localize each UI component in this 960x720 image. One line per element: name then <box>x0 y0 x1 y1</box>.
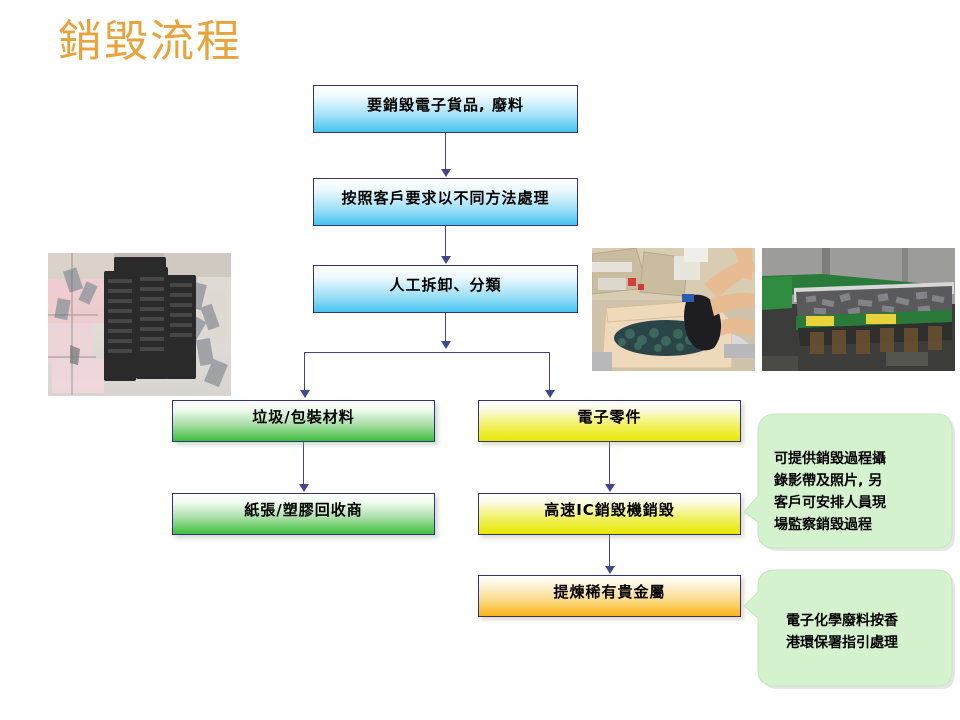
box-label: 提煉稀有貴金屬 <box>553 583 665 610</box>
box-electronic-parts[interactable]: 電子零件 <box>478 400 741 442</box>
arrowhead-2-to-3 <box>441 256 451 264</box>
connector-split-left <box>304 352 305 392</box>
photo-black-trays <box>48 253 231 396</box>
callout-line: 電子化學廢料按香 <box>786 610 946 632</box>
page-title: 銷毀流程 <box>58 14 242 70</box>
box-label: 高速IC銷毀機銷毀 <box>544 501 675 528</box>
arrowhead-waste-to-recycler <box>299 484 309 492</box>
connector-shredder-to-metal <box>609 535 610 568</box>
box-ic-shredder[interactable]: 高速IC銷毀機銷毀 <box>478 493 741 535</box>
box-label: 要銷毀電子貨品, 廢料 <box>367 96 524 123</box>
box-label: 按照客戶要求以不同方法處理 <box>341 189 549 216</box>
arrowhead-split-right <box>545 390 555 398</box>
photo-metal-conveyor <box>762 248 955 371</box>
arrowhead-1-to-2 <box>441 169 451 177</box>
callout-line: 港環保署指引處理 <box>786 632 946 654</box>
connector-1-to-2 <box>445 133 446 170</box>
box-destroy-input[interactable]: 要銷毀電子貨品, 廢料 <box>313 85 578 133</box>
callout-line: 場監察銷毀過程 <box>774 514 944 536</box>
arrowhead-shredder-to-metal <box>605 566 615 574</box>
box-label: 紙張/塑膠回收商 <box>244 501 362 528</box>
box-manual-sort[interactable]: 人工拆卸、分類 <box>313 265 578 313</box>
box-customer-method[interactable]: 按照客戶要求以不同方法處理 <box>313 178 578 226</box>
callout-text: 電子化學廢料按香 港環保署指引處理 <box>786 610 946 654</box>
box-label: 人工拆卸、分類 <box>389 276 501 303</box>
callout-line: 錄影帶及照片, 另 <box>774 470 944 492</box>
box-label: 垃圾/包裝材料 <box>252 408 354 435</box>
callout-video-record[interactable]: 可提供銷毀過程攝 錄影帶及照片, 另 客戶可安排人員現 場監察銷毀過程 <box>742 410 956 552</box>
photo-hand-sorting <box>592 248 755 371</box>
connector-split-right <box>549 352 550 392</box>
arrowhead-parts-to-shredder <box>605 484 615 492</box>
box-paper-recycler[interactable]: 紙張/塑膠回收商 <box>172 493 435 535</box>
callout-line: 客戶可安排人員現 <box>774 492 944 514</box>
callout-text: 可提供銷毀過程攝 錄影帶及照片, 另 客戶可安排人員現 場監察銷毀過程 <box>774 448 944 536</box>
connector-split-bar <box>304 352 550 353</box>
slide-canvas: 銷毀流程 <box>0 0 960 720</box>
arrowhead-split-left <box>300 390 310 398</box>
connector-2-to-3 <box>445 226 446 257</box>
connector-waste-to-recycler <box>303 442 304 486</box>
box-label: 電子零件 <box>577 408 641 435</box>
box-waste-packaging[interactable]: 垃圾/包裝材料 <box>172 400 435 442</box>
callout-epd-guideline[interactable]: 電子化學廢料按香 港環保署指引處理 <box>742 566 956 690</box>
callout-line: 可提供銷毀過程攝 <box>774 448 944 470</box>
box-precious-metal[interactable]: 提煉稀有貴金屬 <box>478 575 741 617</box>
connector-parts-to-shredder <box>609 442 610 486</box>
arrowhead-3-to-split <box>441 341 451 349</box>
